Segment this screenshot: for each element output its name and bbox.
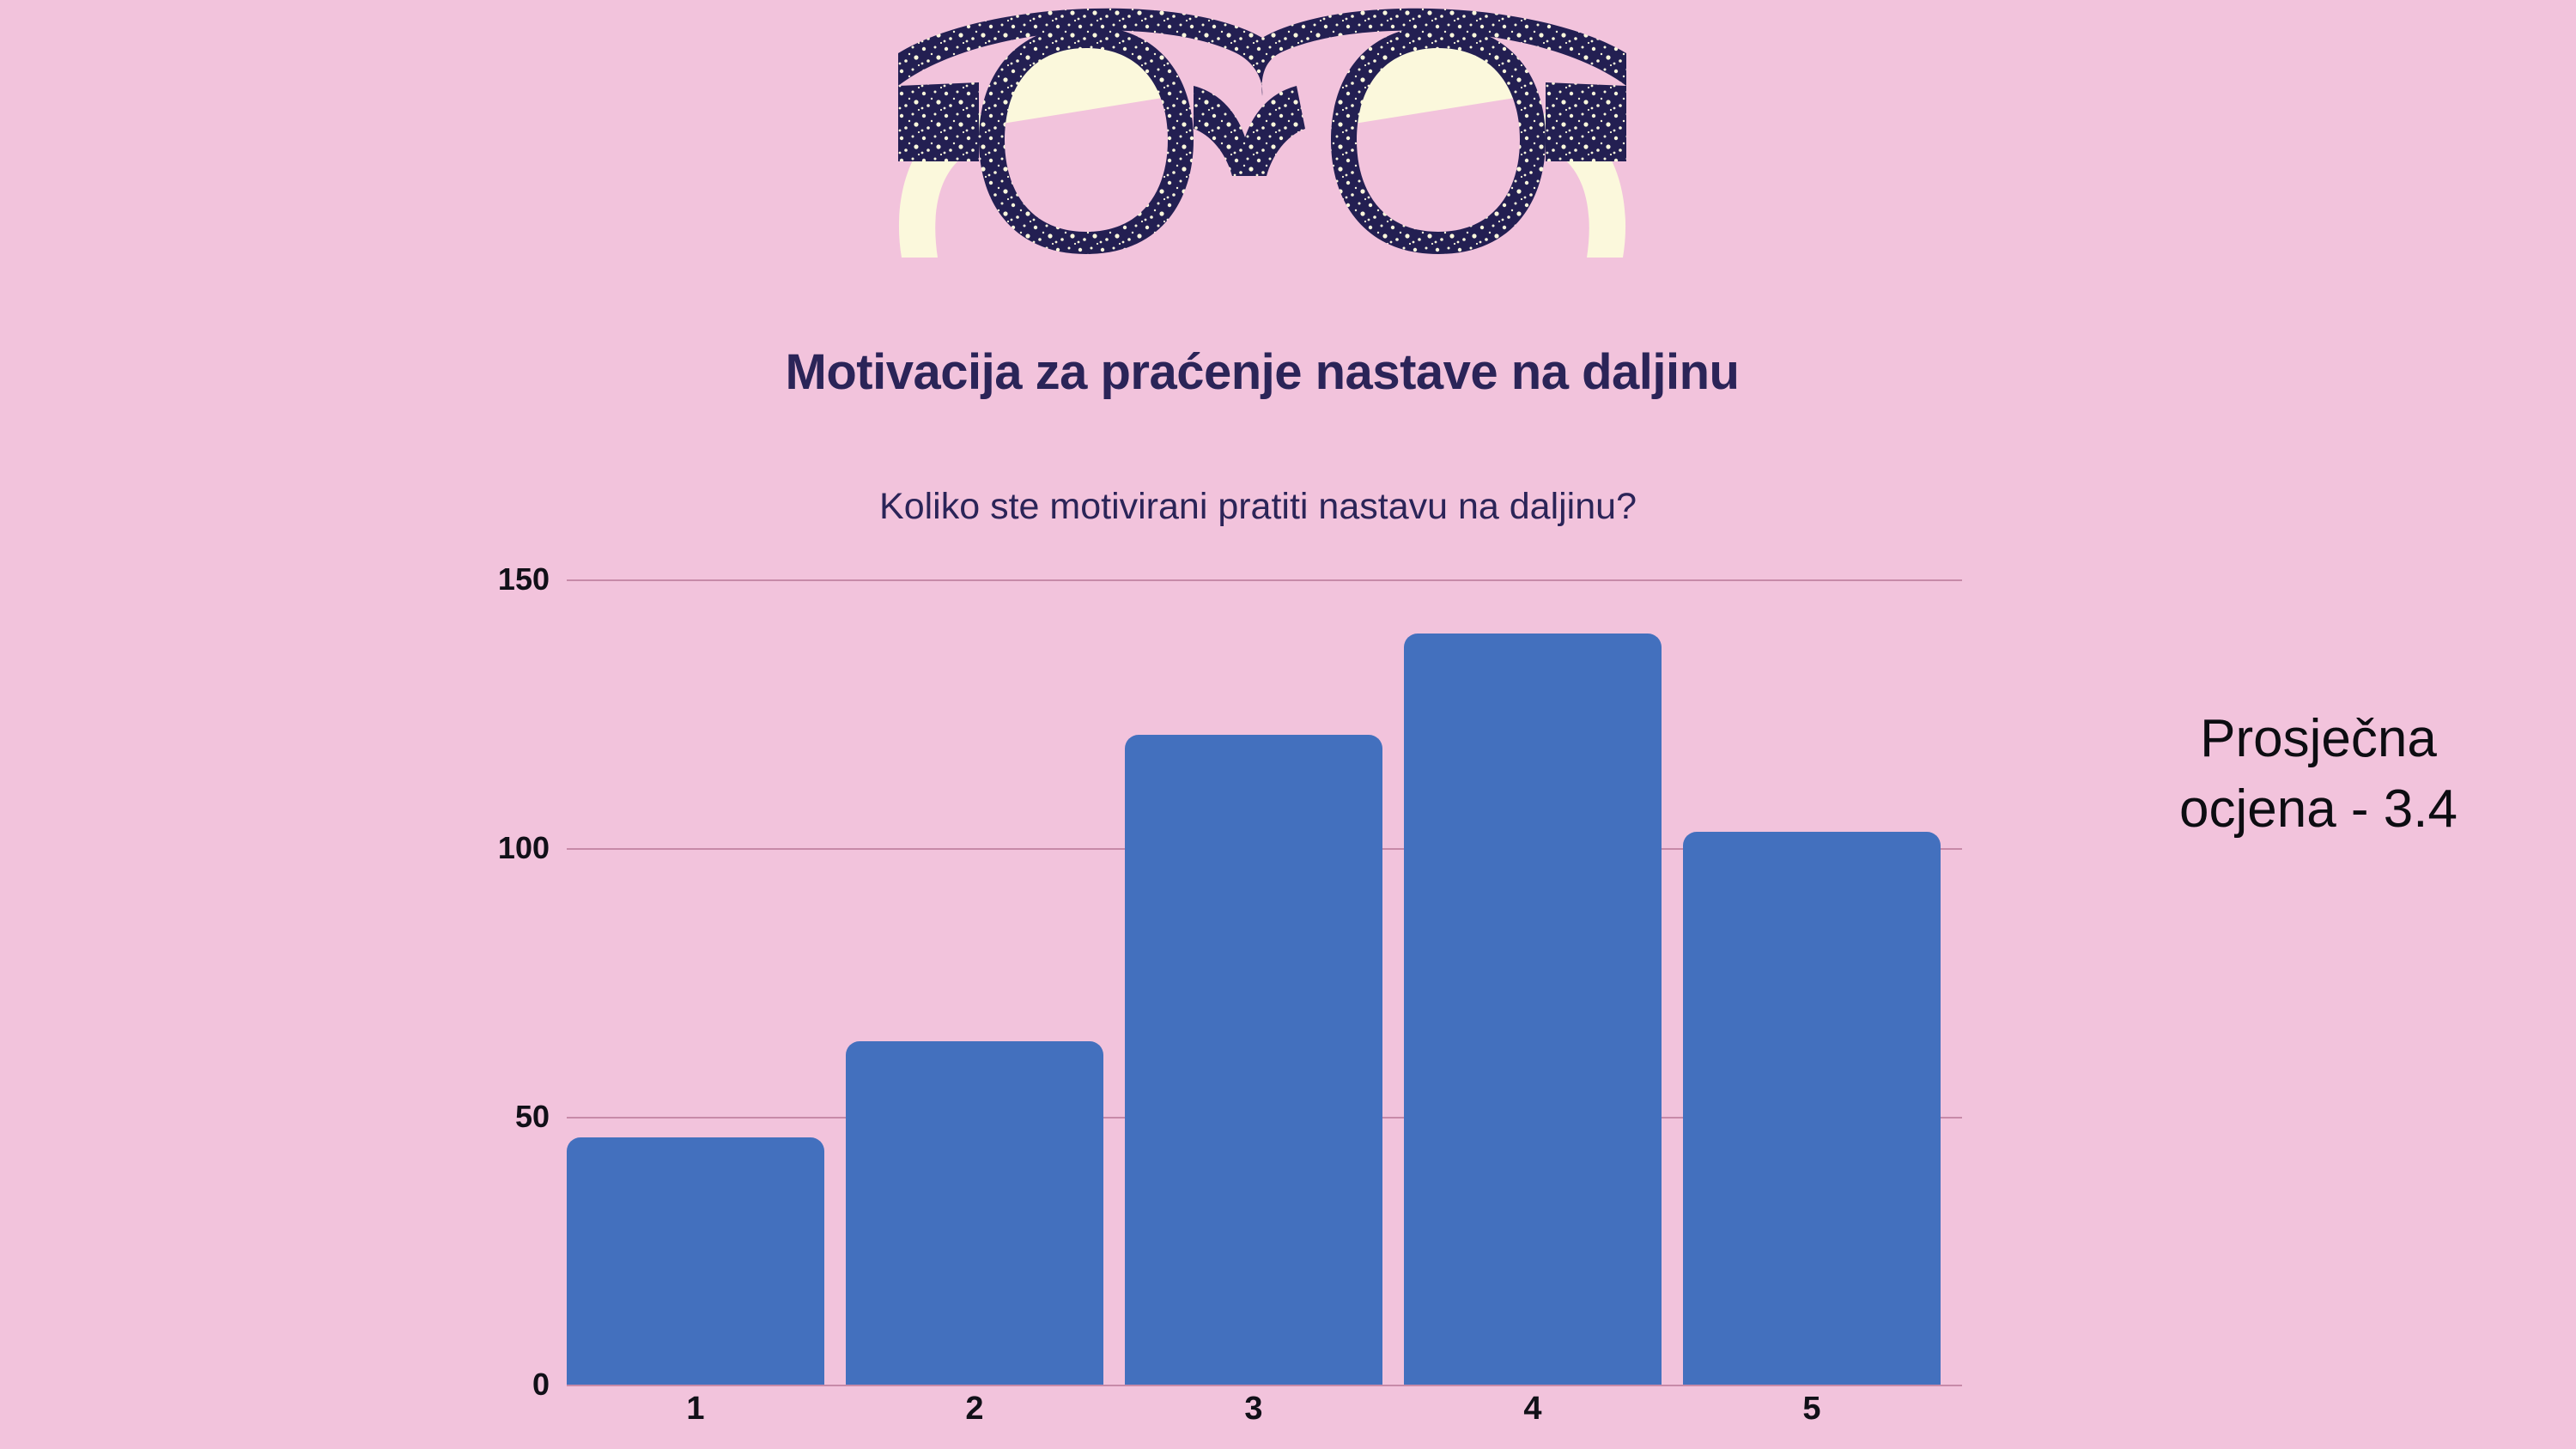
eyeglasses-illustration bbox=[876, 0, 1649, 266]
chart-title: Motivacija za praćenje nastave na daljin… bbox=[0, 343, 2524, 401]
x-tick-label: 2 bbox=[846, 1391, 1103, 1428]
y-tick-label: 0 bbox=[532, 1367, 550, 1403]
x-tick-label: 4 bbox=[1404, 1391, 1662, 1428]
x-axis-line bbox=[567, 1385, 1962, 1386]
bar-5[interactable] bbox=[1683, 832, 1941, 1385]
average-rating-annotation: Prosječna ocjena - 3.4 bbox=[2095, 704, 2542, 845]
x-tick-label: 3 bbox=[1125, 1391, 1382, 1428]
nose-bridge-icon bbox=[1194, 86, 1305, 176]
x-tick-label: 1 bbox=[567, 1391, 824, 1428]
average-rating-line-1: Prosječna bbox=[2095, 704, 2542, 774]
bar-chart: 150 100 50 0 1 2 3 4 5 bbox=[481, 549, 1975, 1408]
bar-series: 1 2 3 4 5 bbox=[567, 579, 1962, 1385]
chart-subtitle: Koliko ste motivirani pratiti nastavu na… bbox=[0, 486, 2516, 528]
bar-1[interactable] bbox=[567, 1137, 824, 1385]
bar-4[interactable] bbox=[1404, 634, 1662, 1385]
bar-3[interactable] bbox=[1125, 735, 1382, 1385]
eyeglasses-svg bbox=[876, 0, 1649, 266]
bar-2[interactable] bbox=[846, 1041, 1103, 1385]
average-rating-line-2: ocjena - 3.4 bbox=[2095, 774, 2542, 845]
x-tick-label: 5 bbox=[1683, 1391, 1941, 1428]
y-tick-label: 100 bbox=[498, 830, 550, 866]
plot-area: 150 100 50 0 1 2 3 4 5 bbox=[567, 579, 1962, 1385]
y-tick-label: 150 bbox=[498, 561, 550, 597]
y-tick-label: 50 bbox=[515, 1099, 550, 1135]
